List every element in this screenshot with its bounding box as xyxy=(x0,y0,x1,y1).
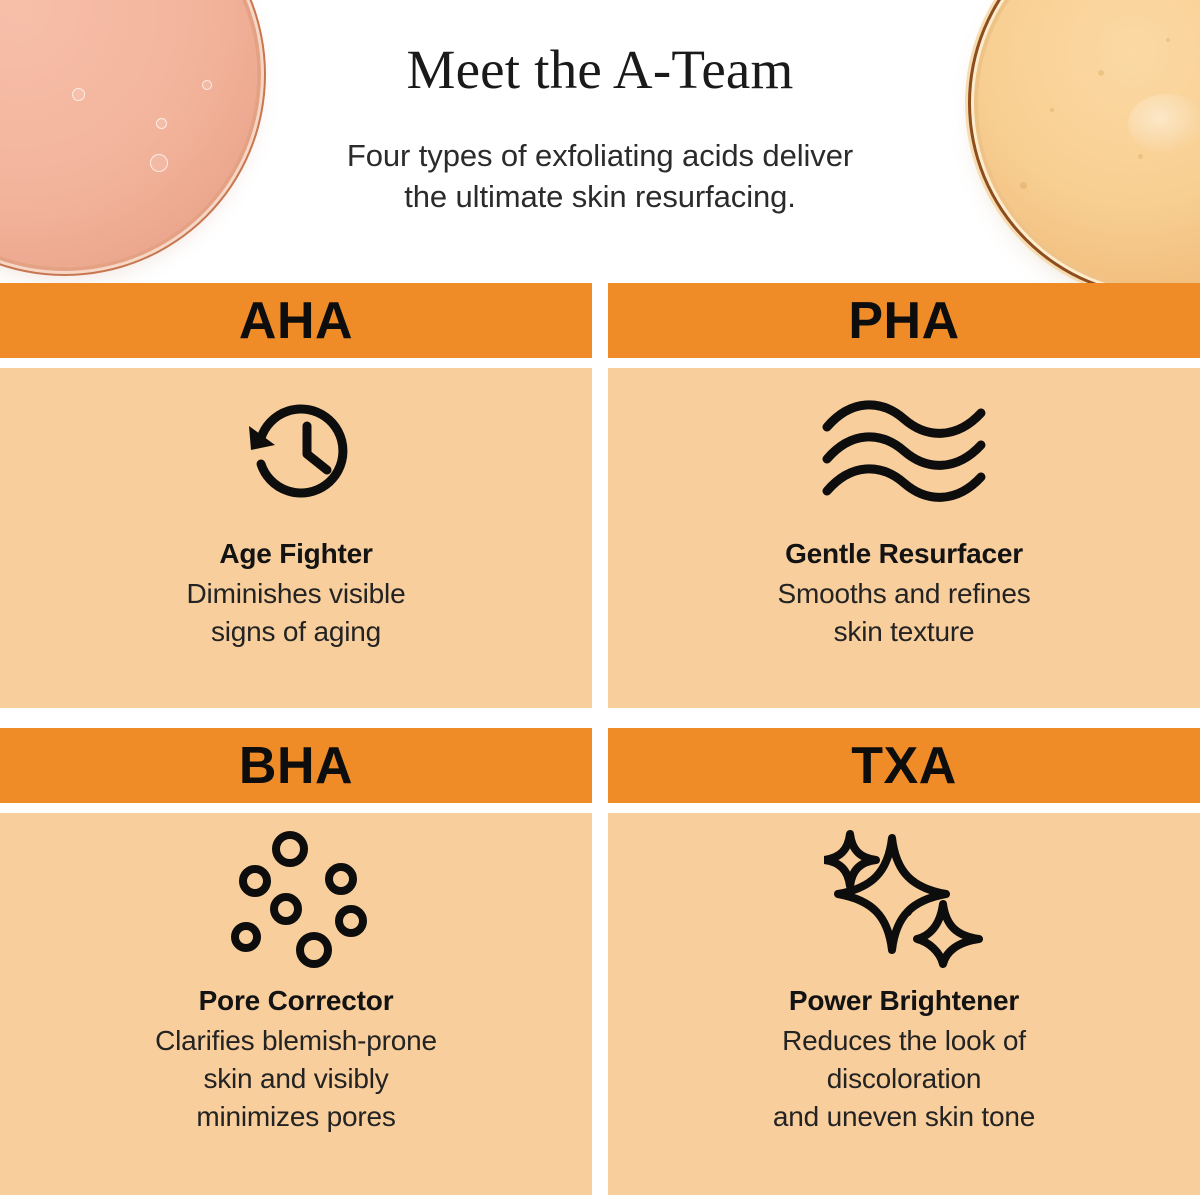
page-title: Meet the A-Team xyxy=(0,40,1200,101)
waves-icon xyxy=(608,368,1200,536)
subtitle-line-1: Four types of exfoliating acids deliver xyxy=(230,135,970,176)
acid-label-pha: PHA xyxy=(848,295,959,347)
card-header-bar-pha: PHA xyxy=(608,283,1200,358)
card-heading-bha: Pore Corrector xyxy=(199,983,394,1018)
card-description-pha: Smooths and refines skin texture xyxy=(777,575,1030,651)
header: Meet the A-Team Four types of exfoliatin… xyxy=(0,0,1200,280)
pores-icon xyxy=(0,813,592,983)
clock-rewind-icon xyxy=(0,368,592,536)
subtitle-line-2: the ultimate skin resurfacing. xyxy=(230,176,970,217)
card-aha: AHA Age Fighter Diminishes visible signs… xyxy=(0,283,592,708)
card-description-bha: Clarifies blemish-prone skin and visibly… xyxy=(155,1022,437,1136)
card-txa: TXA Power Brightener Reduces the look of… xyxy=(608,728,1200,1195)
card-header-bar-aha: AHA xyxy=(0,283,592,358)
card-description-txa: Reduces the look of discoloration and un… xyxy=(773,1022,1035,1136)
card-description-aha: Diminishes visible signs of aging xyxy=(187,575,406,651)
card-pha: PHA Gentle Resurfacer Smooths and refine… xyxy=(608,283,1200,708)
card-bha: BHA Pore Corrector Clarifies blemish-pr xyxy=(0,728,592,1195)
card-body-bha: Pore Corrector Clarifies blemish-prone s… xyxy=(0,813,592,1195)
infographic-page: Meet the A-Team Four types of exfoliatin… xyxy=(0,0,1200,1200)
card-body-aha: Age Fighter Diminishes visible signs of … xyxy=(0,368,592,708)
card-body-txa: Power Brightener Reduces the look of dis… xyxy=(608,813,1200,1195)
card-header-bar-bha: BHA xyxy=(0,728,592,803)
acid-label-txa: TXA xyxy=(851,740,957,792)
acid-grid: AHA Age Fighter Diminishes visible signs… xyxy=(0,283,1200,1200)
acid-label-bha: BHA xyxy=(239,740,353,792)
card-heading-pha: Gentle Resurfacer xyxy=(785,536,1023,571)
acid-label-aha: AHA xyxy=(239,295,353,347)
card-header-bar-txa: TXA xyxy=(608,728,1200,803)
page-subtitle: Four types of exfoliating acids deliver … xyxy=(230,135,970,217)
sparkles-icon xyxy=(608,813,1200,983)
card-body-pha: Gentle Resurfacer Smooths and refines sk… xyxy=(608,368,1200,708)
card-heading-txa: Power Brightener xyxy=(789,983,1019,1018)
card-heading-aha: Age Fighter xyxy=(219,536,372,571)
